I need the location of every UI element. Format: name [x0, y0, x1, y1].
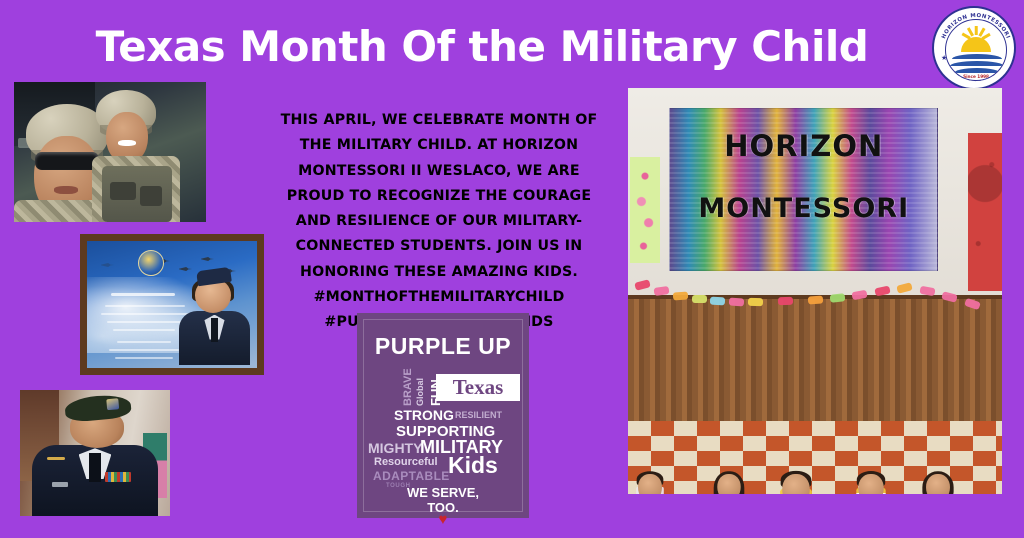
- logo-inner-ring: Since 1998: [945, 19, 1007, 81]
- purple-up-poster-inner: PURPLE UP Texas BRAVE Global FUN STRONG …: [363, 319, 523, 512]
- smile: [118, 140, 136, 146]
- word-cloud-resilient: RESILIENT: [455, 411, 502, 420]
- word-cloud-adaptable: ADAPTABLE: [373, 470, 450, 482]
- airman-dress-uniform: [179, 311, 251, 365]
- vest-pouch: [110, 182, 136, 200]
- horizon-montessori-mural: HORIZON MONTESSORI: [669, 108, 938, 270]
- shoulder-braid: [47, 457, 65, 460]
- sun-icon: [961, 37, 991, 52]
- photo-air-force-plaque: Framed Air Force commemorative plaque wi…: [80, 234, 264, 375]
- body-paragraph: This April, we celebrate Month of the Mi…: [272, 108, 606, 336]
- plaque-script-line: [101, 313, 189, 315]
- airman-tie: [211, 318, 218, 342]
- plaque-script-line: [109, 349, 179, 351]
- heart-icon: ♥: [439, 512, 448, 527]
- ribbon-rack-icon: [105, 472, 131, 482]
- vest-pouch: [140, 186, 162, 206]
- word-cloud-brave: BRAVE: [403, 368, 414, 406]
- beret-flash-insignia: [106, 399, 119, 411]
- wood-paneling: [628, 299, 1002, 421]
- mural-line-1: HORIZON: [670, 129, 937, 163]
- paper-chain-garland: [628, 267, 1002, 312]
- texas-badge: Texas: [436, 374, 520, 401]
- green-flower-poster: [630, 157, 660, 263]
- word-cloud-strong: STRONG: [394, 408, 454, 422]
- dress-blue-uniform: [32, 445, 158, 516]
- sun-ray-icon: [981, 33, 990, 40]
- mouth: [54, 186, 78, 194]
- tagline-line-1: WE SERVE,: [364, 486, 522, 501]
- word-cloud-fun: FUN: [429, 379, 442, 406]
- purple-up-title: PURPLE UP: [364, 333, 522, 360]
- photo-students-group: HORIZON MONTESSORI: [628, 88, 1002, 494]
- plaque-script-line: [105, 305, 185, 307]
- flyer-canvas: Texas Month Of the Military Child HORIZO…: [0, 0, 1024, 538]
- wave-icon: [952, 54, 1002, 59]
- texas-label: Texas: [436, 374, 520, 401]
- logo-since-label: Since 1998: [963, 74, 989, 79]
- student-face: [717, 474, 740, 494]
- mural-line-2: MONTESSORI: [670, 193, 937, 224]
- word-cloud-global: Global: [416, 378, 425, 406]
- sunglasses-icon: [35, 152, 99, 170]
- page-title: Texas Month Of the Military Child: [0, 22, 1024, 71]
- photo-two-soldiers: Two service members in ACU camouflage un…: [14, 82, 206, 222]
- word-cloud-resourceful: Resourceful: [374, 457, 438, 468]
- word-cloud-kids: Kids: [448, 454, 498, 477]
- plaque-name-line: [111, 293, 175, 296]
- word-cloud-mighty: MIGHTY: [368, 441, 422, 455]
- logo-outer-ring: HORIZON MONTESSORI PUBLIC SCHOOLS ★ ★ Si…: [932, 6, 1016, 90]
- horizon-montessori-logo: HORIZON MONTESSORI PUBLIC SCHOOLS ★ ★ Si…: [932, 6, 1016, 90]
- plaque-script-line: [115, 357, 173, 359]
- wave-icon: [954, 68, 1000, 73]
- uniform-tie: [89, 453, 102, 483]
- wave-icon: [950, 61, 1004, 66]
- student-face: [858, 474, 883, 494]
- airman-portrait: [177, 269, 252, 366]
- plaque-script-line: [107, 321, 181, 323]
- purple-up-poster: PURPLE UP Texas BRAVE Global FUN STRONG …: [357, 313, 529, 518]
- plaque-script-line: [113, 329, 175, 331]
- plaque-script-line: [117, 341, 171, 343]
- unit-emblem-icon: [138, 250, 164, 276]
- sun-ray-icon: [975, 26, 978, 35]
- name-tag: [52, 482, 68, 487]
- photo-soldier-dress-blues: Soldier in Army dress blue uniform weari…: [20, 390, 170, 516]
